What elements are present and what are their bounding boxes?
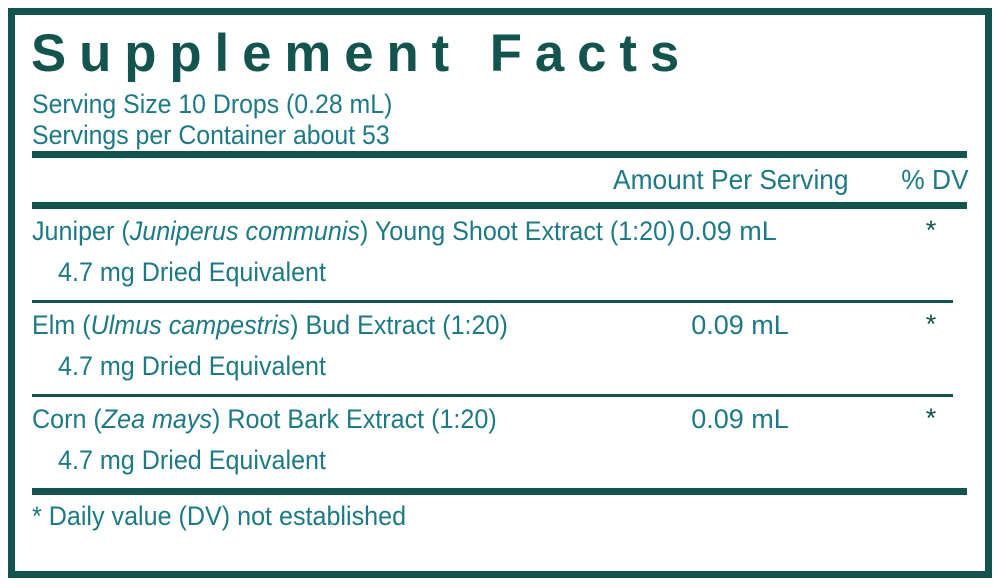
- supplement-facts-inner: Supplement Facts Serving Size 10 Drops (…: [15, 27, 985, 583]
- rule-above-footnote: [32, 488, 967, 495]
- servings-per-container-text: Servings per Container about 53: [32, 120, 896, 151]
- ingredient-percent-dv: *: [901, 309, 961, 340]
- ingredient-botanical-name: Zea mays: [102, 404, 212, 434]
- ingredient-row: Elm (Ulmus campestris) Bud Extract (1:20…: [29, 303, 971, 394]
- ingredient-common-name-pre: Juniper (: [32, 216, 130, 246]
- ingredient-common-name-post: ) Young Shoot Extract (1:20): [360, 216, 675, 246]
- ingredient-amount: 0.09 mL: [643, 216, 813, 247]
- serving-size-text: Serving Size 10 Drops (0.28 mL): [32, 89, 896, 120]
- column-header-percent-dv: % DV: [902, 164, 969, 196]
- rule-below-column-headers: [32, 202, 967, 209]
- ingredient-amount: 0.09 mL: [655, 404, 825, 435]
- ingredient-common-name-pre: Elm (: [32, 310, 91, 340]
- serving-info-block: Serving Size 10 Drops (0.28 mL) Servings…: [32, 89, 971, 151]
- ingredient-row: Juniper (Juniperus communis) Young Shoot…: [29, 209, 971, 300]
- ingredient-name: Corn (Zea mays) Root Bark Extract (1:20): [32, 404, 497, 435]
- column-header-row: Amount Per Serving % DV: [29, 158, 971, 202]
- ingredient-botanical-name: Ulmus campestris: [91, 310, 291, 340]
- ingredient-common-name-pre: Corn (: [32, 404, 102, 434]
- ingredient-percent-dv: *: [901, 403, 961, 434]
- ingredient-dried-equivalent: 4.7 mg Dried Equivalent: [58, 351, 326, 382]
- ingredient-common-name-post: ) Root Bark Extract (1:20): [212, 404, 497, 434]
- ingredient-percent-dv: *: [901, 215, 961, 246]
- ingredient-name: Juniper (Juniperus communis) Young Shoot…: [32, 216, 675, 247]
- column-header-amount-per-serving: Amount Per Serving: [613, 164, 849, 196]
- rule-above-column-headers: [32, 151, 967, 158]
- ingredient-dried-equivalent: 4.7 mg Dried Equivalent: [58, 257, 326, 288]
- ingredient-name: Elm (Ulmus campestris) Bud Extract (1:20…: [32, 310, 508, 341]
- ingredient-dried-equivalent: 4.7 mg Dried Equivalent: [58, 445, 326, 476]
- ingredient-common-name-post: ) Bud Extract (1:20): [290, 310, 508, 340]
- supplement-facts-panel: Supplement Facts Serving Size 10 Drops (…: [8, 8, 992, 578]
- ingredient-row: Corn (Zea mays) Root Bark Extract (1:20)…: [29, 397, 971, 488]
- ingredient-amount: 0.09 mL: [655, 310, 825, 341]
- page-title: Supplement Facts: [31, 27, 966, 80]
- footnote-daily-value: * Daily value (DV) not established: [32, 501, 905, 532]
- ingredient-botanical-name: Juniperus communis: [130, 216, 360, 246]
